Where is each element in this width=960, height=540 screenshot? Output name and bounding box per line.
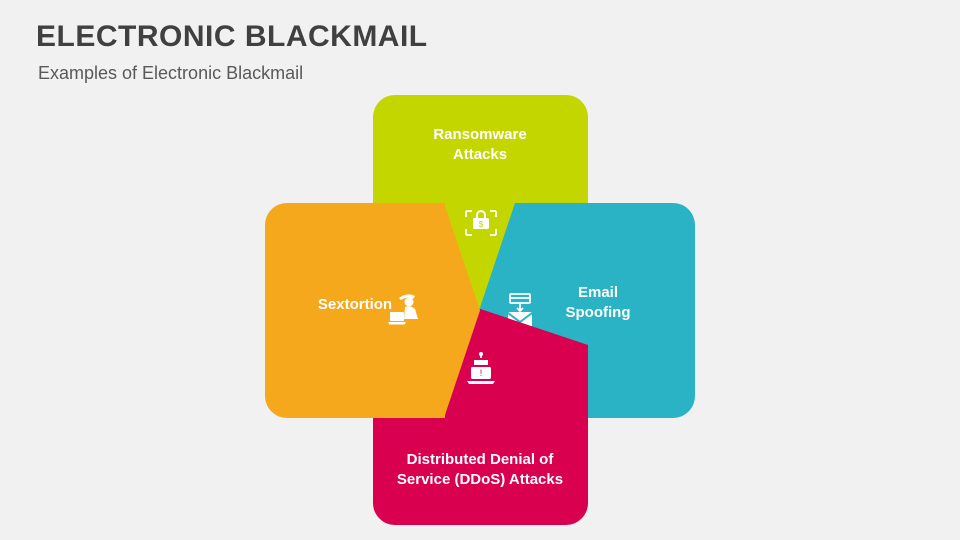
segment-sextortion[interactable]: Sextortion [265, 203, 480, 418]
segment-ddos-label: Distributed Denial of Service (DDoS) Att… [373, 450, 588, 491]
segment-sextortion-point [444, 203, 480, 418]
segment-ransomware-label: Ransomware Attacks [373, 125, 588, 166]
page-title: ELECTRONIC BLACKMAIL [36, 20, 428, 54]
pinwheel-diagram: Ransomware Attacks $ [265, 95, 695, 525]
slide: ELECTRONIC BLACKMAIL Examples of Electro… [0, 0, 960, 540]
page-subtitle: Examples of Electronic Blackmail [38, 63, 303, 84]
sextortion-person-laptop-icon [387, 290, 429, 326]
